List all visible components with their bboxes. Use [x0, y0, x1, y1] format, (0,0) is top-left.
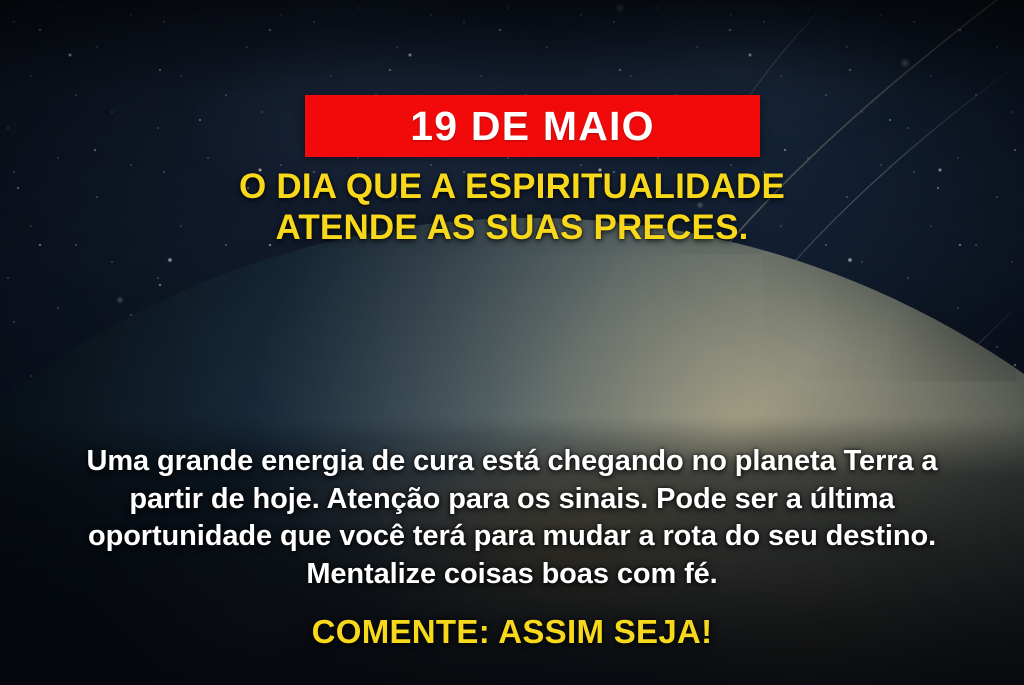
call-to-action-label: COMENTE: ASSIM SEJA!: [0, 613, 1024, 651]
poster-canvas: 19 DE MAIO O DIA QUE A ESPIRITUALIDADE A…: [0, 0, 1024, 685]
poster-content: 19 DE MAIO O DIA QUE A ESPIRITUALIDADE A…: [0, 0, 1024, 685]
headline-line-1: O DIA QUE A ESPIRITUALIDADE: [239, 167, 785, 206]
date-banner: 19 DE MAIO: [305, 95, 760, 157]
date-banner-label: 19 DE MAIO: [410, 106, 654, 147]
body-paragraph: Uma grande energia de cura está chegando…: [56, 443, 968, 594]
headline: O DIA QUE A ESPIRITUALIDADE ATENDE AS SU…: [0, 166, 1024, 249]
headline-line-2: ATENDE AS SUAS PRECES.: [44, 207, 980, 248]
